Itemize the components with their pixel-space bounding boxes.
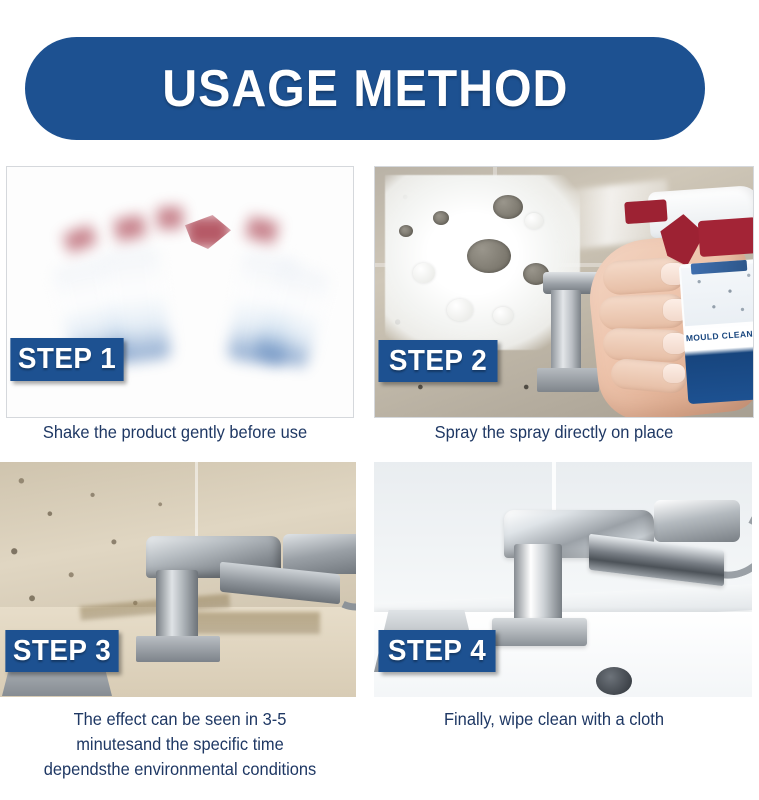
foam-bubble bbox=[467, 239, 511, 273]
step-3-badge: STEP 3 bbox=[5, 630, 118, 672]
foam-bubble bbox=[399, 225, 413, 237]
step-3-caption-line: dependsthe environmental conditions bbox=[18, 757, 341, 782]
foam-bubble bbox=[413, 263, 435, 283]
drain-plug bbox=[596, 667, 632, 695]
step-3-caption-line: minutesand the specific time bbox=[18, 732, 341, 757]
bottle-nozzle bbox=[624, 199, 667, 224]
faucet bbox=[128, 524, 356, 659]
step-1-caption: Shake the product gently before use bbox=[20, 420, 330, 445]
step-3-caption-line: The effect can be seen in 3-5 bbox=[18, 707, 341, 732]
foam-bubble bbox=[433, 211, 449, 225]
faucet-base bbox=[537, 368, 599, 392]
foam-bubble bbox=[493, 307, 513, 324]
faucet-column bbox=[551, 290, 581, 372]
step-2-badge: STEP 2 bbox=[378, 340, 497, 382]
usage-method-banner: USAGE METHOD bbox=[25, 37, 705, 140]
step-2-caption: Spray the spray directly on place bbox=[385, 420, 723, 445]
foam-bubble bbox=[447, 299, 473, 321]
step-1-badge: STEP 1 bbox=[10, 338, 123, 381]
faucet-base bbox=[136, 636, 220, 662]
foam-bubble bbox=[525, 213, 543, 229]
product-bottle: MOULD CLEANER bbox=[630, 185, 753, 409]
faucet bbox=[484, 480, 739, 660]
faucet-base bbox=[492, 618, 587, 646]
step-4-badge: STEP 4 bbox=[378, 630, 495, 672]
foam-bubble bbox=[493, 195, 523, 219]
step-3-caption: The effect can be seen in 3-5 minutesand… bbox=[18, 707, 341, 782]
bottle-grip bbox=[698, 217, 753, 257]
step-4-caption: Finally, wipe clean with a cloth bbox=[385, 707, 723, 732]
infographic-page: USAGE METHOD MOULD CLEANER bbox=[0, 0, 759, 800]
page-title: USAGE METHOD bbox=[162, 59, 568, 119]
